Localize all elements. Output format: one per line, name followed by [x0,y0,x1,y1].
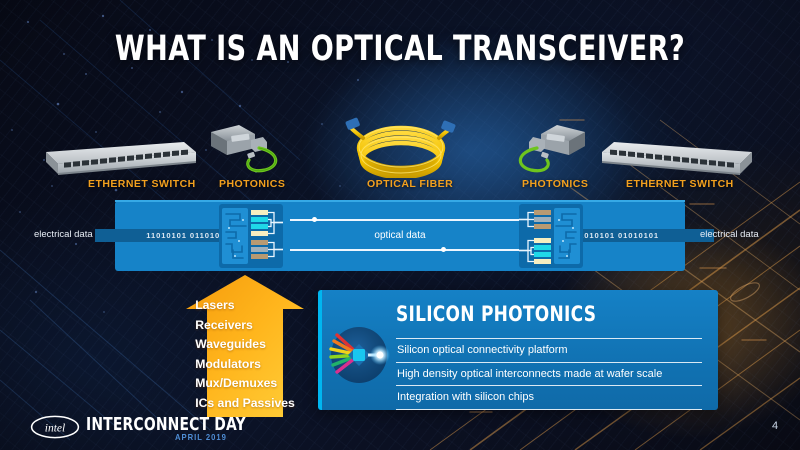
component-item-ics-passives: ICs and Passives [195,394,295,414]
component-item-lasers: Lasers [195,296,295,316]
silicon-photonics-title: SILICON PHOTONICS [396,302,596,326]
silicon-photonics-bullet-3: Integration with silicon chips [396,385,702,410]
silicon-photonics-bullet-1: Silicon optical connectivity platform [396,338,702,362]
optical-fiber-image [345,116,457,178]
slide-root: WHAT IS AN OPTICAL TRANSCEIVER? [0,0,800,450]
label-ethernet-switch-right: ETHERNET SWITCH [626,178,734,190]
components-arrow-list: Lasers Receivers Waveguides Modulators M… [186,275,304,417]
photonics-module-right-image [513,122,591,180]
slide-title: WHAT IS AN OPTICAL TRANSCEIVER? [56,28,744,70]
hardware-row [0,104,800,176]
component-item-receivers: Receivers [195,316,295,336]
page-number: 4 [772,420,778,432]
svg-text:intel: intel [45,422,65,434]
silicon-photonics-bullets: Silicon optical connectivity platform Hi… [396,338,702,410]
hardware-labels: ETHERNET SWITCH PHOTONICS OPTICAL FIBER … [0,178,800,194]
optical-link-line-top [290,219,520,221]
transceiver-chip-right [519,204,583,268]
component-item-mux-demuxes: Mux/Demuxes [195,374,295,394]
optical-data-label: optical data [0,230,800,241]
transceiver-chip-left [219,204,283,268]
label-ethernet-switch-left: ETHERNET SWITCH [88,178,196,190]
intel-logo: intel [30,415,80,439]
component-item-modulators: Modulators [195,355,295,375]
optical-link-node-bottom [441,247,446,252]
ethernet-switch-left-image [38,130,198,178]
band-top-edge [115,200,685,202]
label-photonics-right: PHOTONICS [522,178,588,190]
label-photonics-left: PHOTONICS [219,178,285,190]
optical-link-node-top [312,217,317,222]
silicon-photonics-icon [326,322,392,388]
ethernet-switch-right-image [600,130,760,178]
photonics-module-left-image [205,122,283,180]
label-optical-fiber: OPTICAL FIBER [367,178,453,190]
footer-event-date: APRIL 2019 [175,432,227,442]
component-item-waveguides: Waveguides [195,335,295,355]
optical-link-line-bottom [290,249,520,251]
silicon-photonics-bullet-2: High density optical interconnects made … [396,362,702,386]
